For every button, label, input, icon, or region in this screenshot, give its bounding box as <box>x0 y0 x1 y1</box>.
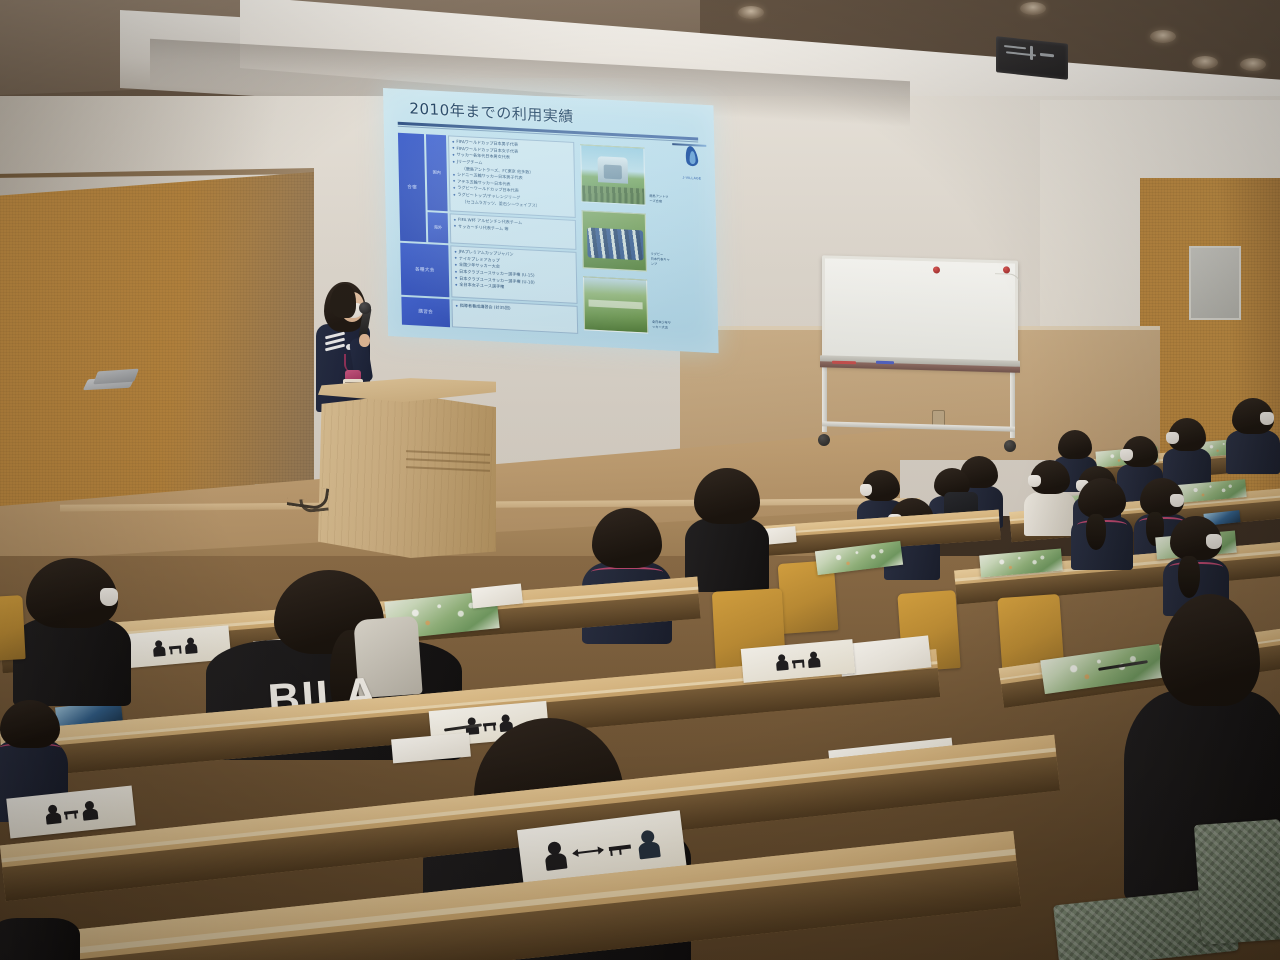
audience-member <box>1168 418 1206 484</box>
projection-screen: 2010年までの利用実績 J-VILLAGE 合宿 国内 FIFAワールドカップ… <box>383 88 719 353</box>
slide-list-domestic: FIFAワールドカップ日本男子代表 FIFAワールドカップ日本女子代表 サッカー… <box>452 139 573 211</box>
slide-cell-domestic: FIFAワールドカップ日本男子代表 FIFAワールドカップ日本女子代表 サッカー… <box>448 135 576 218</box>
slide-cell-tournaments: JFAプレミアムカップジャパン ナイキプレミアカップ 全国少年サッカー大会 日本… <box>450 245 577 304</box>
slide-photo-caption: 全日本少年サッカー大会 <box>652 320 674 331</box>
slide-row-label-tournaments: 各種大会 <box>400 243 449 298</box>
microphone-head-icon <box>359 302 371 314</box>
person-pictogram <box>542 840 569 871</box>
person-pictogram <box>635 829 662 860</box>
downlight-icon <box>1192 56 1218 69</box>
seat-cushion[interactable] <box>1194 819 1280 945</box>
projected-slide: 2010年までの利用実績 J-VILLAGE 合宿 国内 FIFAワールドカップ… <box>383 88 719 353</box>
person-pictogram <box>151 640 166 657</box>
slide-photo-rugby <box>582 210 647 271</box>
slide-photo-caption: ラグビー 日本代表キャンプ <box>650 252 672 268</box>
desk-pictogram <box>64 810 78 814</box>
slide-cell-overseas: FIFA W杯 アルゼンチン代表チーム サッカーチリ代表チーム 等 <box>450 213 577 250</box>
jvillage-logo-icon: J-VILLAGE <box>678 145 705 180</box>
audience-member <box>26 558 118 698</box>
desk-pictogram <box>792 659 804 663</box>
downlight-icon <box>1150 30 1176 43</box>
slide-title: 2010年までの利用実績 <box>409 97 574 127</box>
magnet-icon[interactable] <box>933 266 940 273</box>
slide-sub-label-overseas: 海外 <box>428 212 449 243</box>
slide-cell-seminars: 指導者養成講習会 (計35回) <box>451 299 578 334</box>
presenter-hair-front <box>330 284 356 318</box>
presenter-hand <box>359 334 370 347</box>
slide-photo-stadium <box>580 144 645 205</box>
downlight-icon <box>1020 2 1046 15</box>
wall-notice-frame <box>1189 246 1241 320</box>
audience-member <box>1078 478 1126 568</box>
slide-list-seminars: 指導者養成講習会 (計35回) <box>456 303 575 316</box>
slide-row-label-seminars: 講習会 <box>401 297 450 328</box>
slide-photo-youth-soccer <box>583 276 648 333</box>
whiteboard[interactable] <box>812 258 1022 458</box>
person-pictogram <box>80 800 99 821</box>
audience-member <box>0 912 70 960</box>
person-pictogram <box>183 637 198 654</box>
whiteboard-cord <box>995 273 1021 292</box>
whiteboard-surface[interactable] <box>822 255 1018 370</box>
person-pictogram <box>774 654 789 671</box>
slide-list-overseas: FIFA W杯 アルゼンチン代表チーム サッカーチリ代表チーム 等 <box>454 217 573 236</box>
marker-blue-icon[interactable] <box>876 361 894 365</box>
audience-member <box>1232 398 1274 470</box>
slide-photo-caption: 鹿島アントラーズ合宿 <box>649 194 671 205</box>
slide-photo-column: 鹿島アントラーズ合宿 ラグビー 日本代表キャンプ 全日本少年サッカー大会 <box>580 144 674 339</box>
distance-arrow-icon <box>573 849 603 855</box>
caster-icon <box>818 434 830 446</box>
audience-member <box>1030 460 1070 530</box>
podium <box>318 376 496 558</box>
person-pictogram <box>43 804 62 825</box>
podium-body <box>318 394 496 558</box>
logo-label: J-VILLAGE <box>679 175 705 180</box>
audience-member <box>694 468 760 588</box>
downlight-icon <box>1240 58 1266 71</box>
caster-icon <box>1004 440 1016 452</box>
slide-list-tournaments: JFAプレミアムカップジャパン ナイキプレミアカップ 全国少年サッカー大会 日本… <box>454 249 574 295</box>
slide-sub-label-domestic: 国内 <box>426 134 448 211</box>
projector-control-panel <box>996 36 1068 80</box>
podium-top <box>318 376 496 402</box>
marker-red-icon[interactable] <box>832 361 856 365</box>
lecture-hall-photo: 2010年までの利用実績 J-VILLAGE 合宿 国内 FIFAワールドカップ… <box>0 0 1280 960</box>
slide-table: 合宿 国内 FIFAワールドカップ日本男子代表 FIFAワールドカップ日本女子代… <box>398 133 578 332</box>
desk-pictogram <box>609 844 631 851</box>
desk-pictogram <box>169 645 181 649</box>
slide-row-label-camp: 合宿 <box>398 133 426 242</box>
person-pictogram <box>806 651 821 668</box>
whiteboard-foot-bar <box>822 421 1015 431</box>
downlight-icon <box>738 6 764 19</box>
seat-back[interactable] <box>0 595 26 661</box>
